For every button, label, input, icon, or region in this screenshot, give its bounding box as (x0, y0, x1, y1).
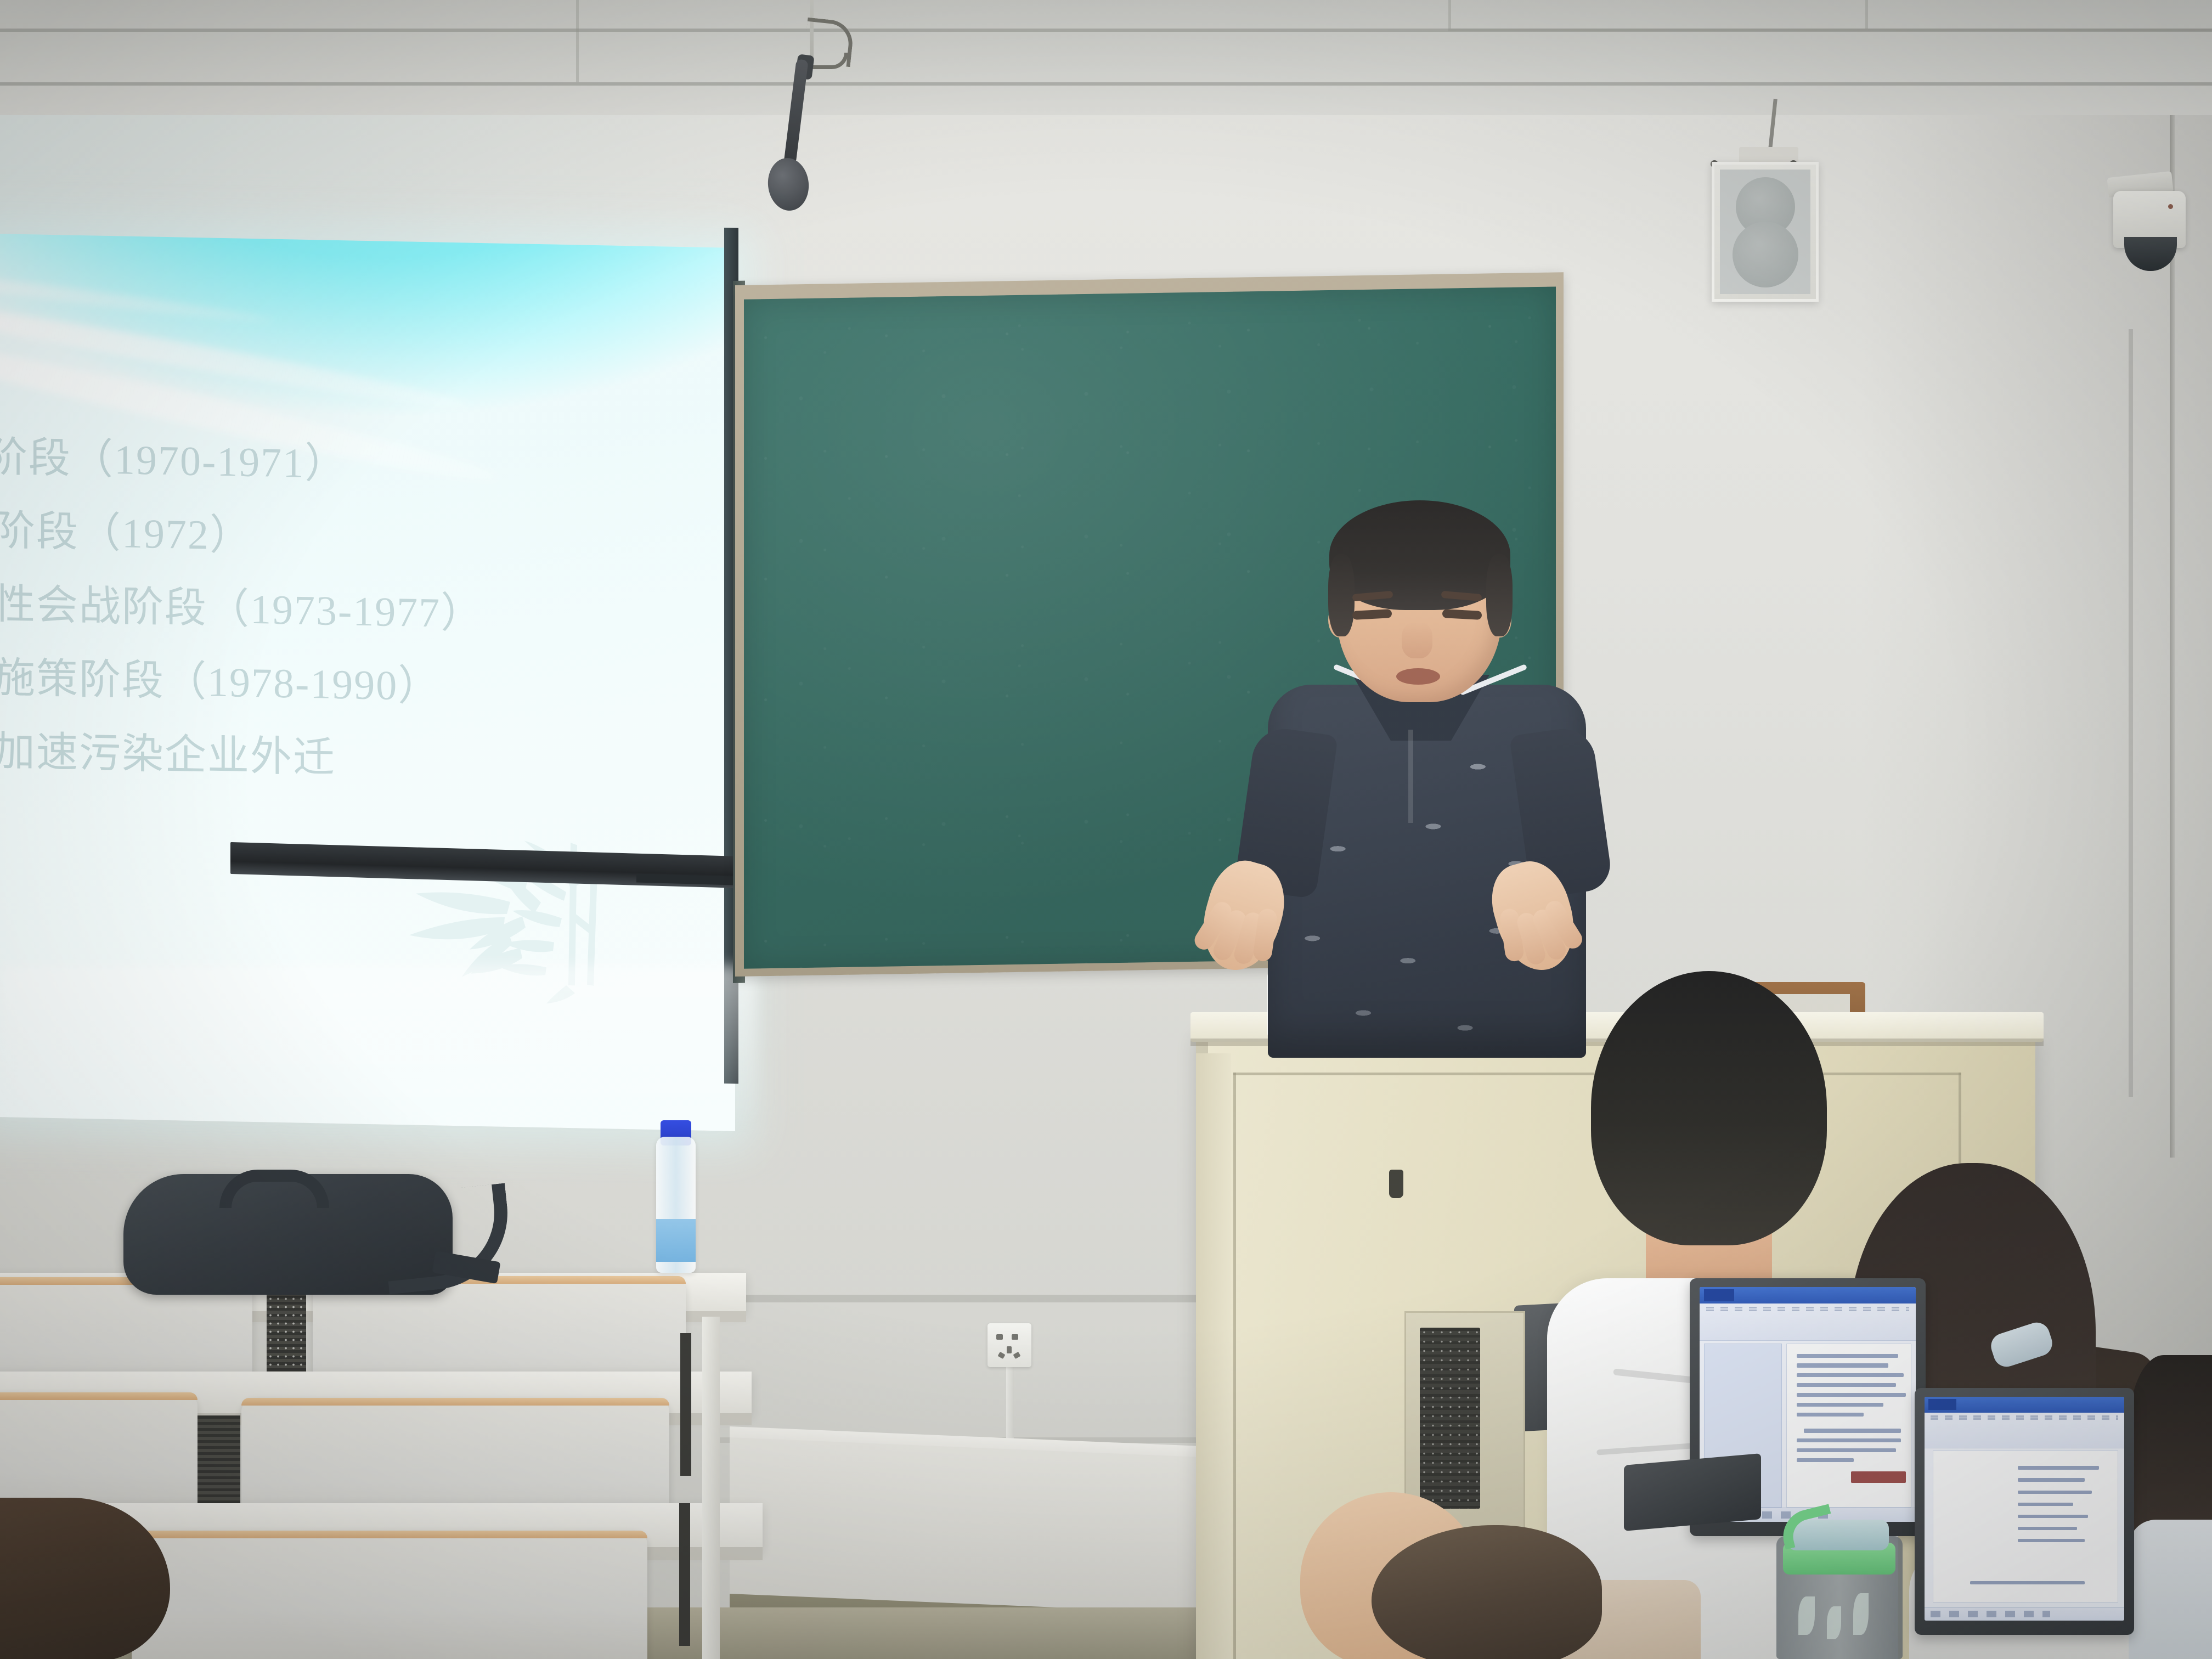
slide-line: 众性会战阶段（1973-1977） (0, 583, 730, 639)
ceiling-panel-line (1865, 0, 1868, 29)
text-line (1797, 1438, 1901, 1442)
text-line (2018, 1539, 2084, 1543)
ceiling-panel-line (576, 0, 579, 82)
chair-trim (241, 1398, 669, 1406)
outlet-slot (1012, 1334, 1018, 1340)
lectern-left-panel (1196, 1053, 1231, 1659)
slide-line: 步阶段（1972） (0, 509, 730, 566)
ceiling (0, 0, 2212, 132)
text-highlight (1851, 1471, 1906, 1483)
lecturer-hair-side (1328, 554, 1355, 636)
outlet-slot (997, 1352, 1005, 1359)
bottle-decal (1798, 1596, 1815, 1635)
chair[interactable] (132, 1531, 647, 1659)
bottle-label (656, 1219, 696, 1262)
text-line (1797, 1403, 1884, 1407)
slide-line: 位加速污染企业外迁 (0, 730, 730, 786)
outlet-slot (996, 1334, 1003, 1340)
text-line (1797, 1413, 1864, 1417)
student-hair (0, 1498, 170, 1659)
window-title-accent (1704, 1289, 1734, 1301)
slide-line: 查阶段（1970-1971） (0, 436, 730, 493)
bottle-decal (1827, 1606, 1841, 1639)
lecturer-nose (1402, 622, 1432, 658)
lectern-lock-icon[interactable] (1389, 1170, 1403, 1198)
text-line (1797, 1448, 1896, 1452)
text-line (2018, 1503, 2073, 1506)
lectern-door-seam (1233, 1073, 1236, 1659)
text-line (1797, 1393, 1906, 1397)
editor-ribbon (1700, 1304, 1916, 1341)
ribbon-row (1706, 1307, 1909, 1308)
window-title-accent (1928, 1399, 1956, 1410)
student-bottom-left (0, 1498, 170, 1659)
wall-seam (719, 1295, 1267, 1302)
projector-light-spill (0, 966, 757, 1130)
wall-corner-edge (2129, 329, 2133, 1097)
lecturer-hair-side (1486, 554, 1513, 636)
text-line (2018, 1515, 2088, 1519)
editor-ribbon (1925, 1413, 2124, 1448)
text-line (1797, 1458, 1854, 1462)
shirt-placket (1408, 730, 1413, 823)
bottle-decal (1853, 1593, 1869, 1635)
student-shoulder (2129, 1520, 2212, 1659)
desk-support-leg (702, 1317, 720, 1659)
document-page[interactable] (1786, 1344, 1912, 1508)
text-line (2018, 1527, 2077, 1531)
slide-text-block: 查阶段（1970-1971） 步阶段（1972） 众性会战阶段（1973-197… (0, 436, 730, 818)
ribbon-row (1706, 1310, 1909, 1311)
ceiling-panel-line (1448, 0, 1451, 29)
document-page[interactable] (1933, 1451, 2119, 1602)
speaker-bracket (1739, 147, 1798, 163)
laptop-lid (1915, 1388, 2134, 1635)
text-line (1797, 1373, 1904, 1377)
status-bar-items (1931, 1611, 2050, 1617)
desk-rail (680, 1333, 691, 1476)
text-line (2018, 1466, 2099, 1470)
text-line (1797, 1363, 1889, 1367)
slide-line: 合施策阶段（1978-1990） (0, 656, 730, 713)
power-outlet-icon[interactable] (988, 1323, 1031, 1367)
text-line (2018, 1491, 2092, 1494)
wall-speaker-icon (1712, 162, 1819, 302)
laptop-right[interactable] (1915, 1388, 2134, 1635)
text-line (1804, 1429, 1901, 1432)
speaker-grille (1720, 170, 1810, 294)
text-line (2018, 1478, 2084, 1482)
ribbon-row (1931, 1415, 2118, 1417)
lecturer-mouth (1396, 668, 1440, 685)
text-line (1970, 1581, 2085, 1585)
chair-gap-perforations (267, 1295, 306, 1377)
ceiling-seam (0, 82, 2212, 86)
text-line (1797, 1354, 1899, 1358)
lecture-hall-photo: ） (0, 0, 2212, 1659)
student-right-edge (2129, 1355, 2212, 1659)
student-hair (1591, 971, 1827, 1245)
chair-trim (132, 1531, 647, 1538)
tablet-device[interactable] (1624, 1453, 1761, 1531)
text-line (1797, 1383, 1896, 1387)
speaker-driver (1733, 222, 1798, 287)
chair-gap (198, 1415, 240, 1503)
wall-corner-edge (2170, 115, 2175, 1158)
ribbon-row (1931, 1418, 2118, 1420)
student-hair (2129, 1355, 2212, 1542)
laptop-screen[interactable] (1925, 1397, 2124, 1621)
camera-status-led (2168, 204, 2173, 209)
outlet-slot (1007, 1346, 1012, 1353)
desk-rail (679, 1503, 690, 1646)
ceiling-panel-line (1448, 29, 2212, 31)
outlet-slot (1013, 1352, 1020, 1359)
chair-trim (0, 1392, 198, 1400)
